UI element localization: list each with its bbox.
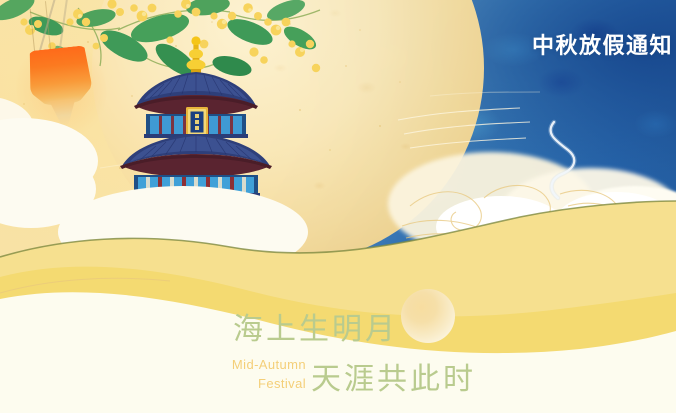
english-label-line-1: Mid-Autumn (150, 355, 306, 375)
english-label-line-2: Festival (150, 374, 306, 394)
poem-line-2: 天涯共此时 (311, 354, 476, 398)
temple-finial (187, 36, 206, 74)
page-title: 中秋放假通知 (532, 28, 673, 60)
small-moon (401, 289, 455, 343)
temple-plaque (186, 107, 208, 137)
mid-autumn-poster: 中秋放假通知 海上生明月 天涯共此时 Mid-Autumn Festival (0, 0, 676, 413)
temple-roof-mid (120, 134, 272, 177)
poem-line-1: 海上生明月 (233, 304, 398, 348)
